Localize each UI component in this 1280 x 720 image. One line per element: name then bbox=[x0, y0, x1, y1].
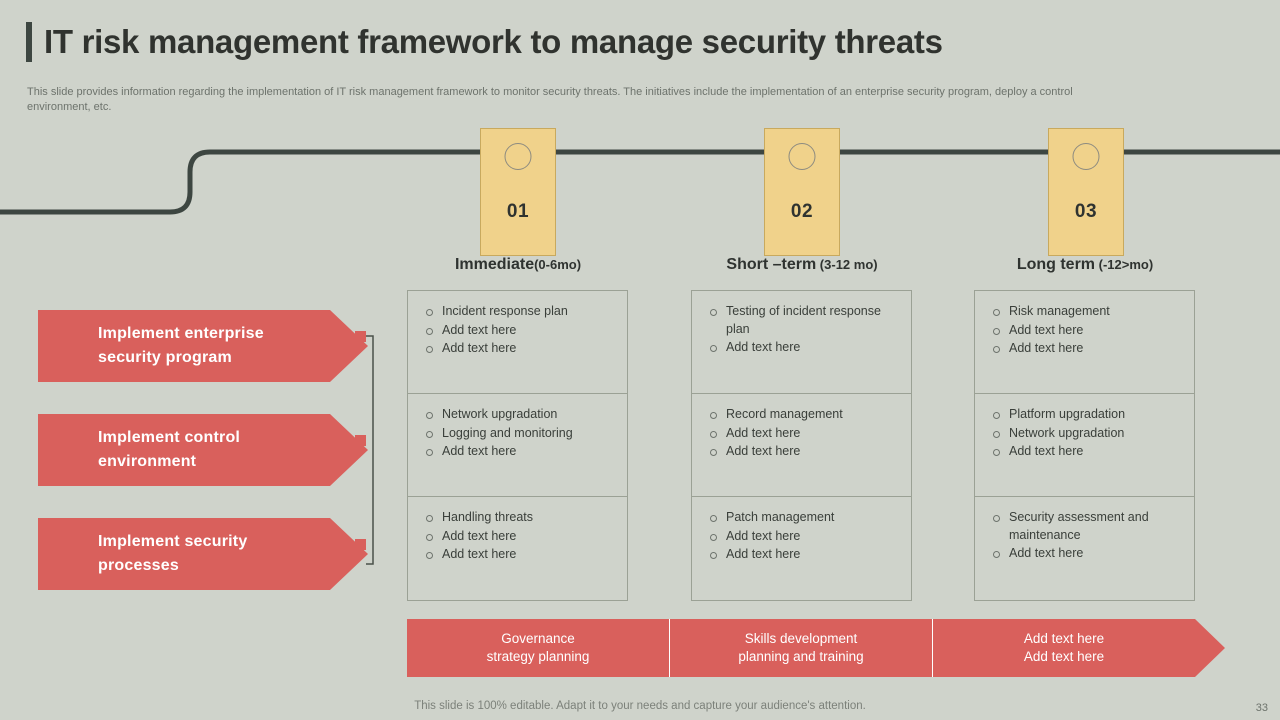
list-item: Network upgradation bbox=[989, 425, 1184, 443]
initiative-arrow-enterprise-security-program: Implement enterprise security program bbox=[38, 310, 368, 382]
list-item: Add text here bbox=[989, 545, 1184, 563]
initiative-arrow-security-processes: Implement security processes bbox=[38, 518, 368, 590]
milestone-tag-02: 02 bbox=[764, 128, 840, 256]
bullet-list: Testing of incident response plan Add te… bbox=[706, 303, 901, 357]
connector-bracket bbox=[355, 330, 377, 570]
list-item: Incident response plan bbox=[422, 303, 617, 321]
content-column-immediate: Incident response plan Add text here Add… bbox=[407, 290, 628, 601]
bullet-list: Patch management Add text here Add text … bbox=[706, 509, 901, 564]
list-item: Add text here bbox=[706, 546, 901, 564]
list-item: Record management bbox=[706, 406, 901, 424]
column-heading-long-term: Long term (-12>mo) bbox=[945, 256, 1225, 274]
connector-node bbox=[355, 331, 366, 342]
content-column-short-term: Testing of incident response plan Add te… bbox=[691, 290, 912, 601]
banner-line-2: planning and training bbox=[738, 648, 863, 666]
bullet-list: Network upgradation Logging and monitori… bbox=[422, 406, 617, 461]
banner-line-2: Add text here bbox=[1024, 648, 1104, 666]
content-cell: Network upgradation Logging and monitori… bbox=[408, 394, 627, 497]
list-item: Add text here bbox=[706, 425, 901, 443]
connector-node bbox=[355, 435, 366, 446]
column-heading-immediate: Immediate(0-6mo) bbox=[378, 256, 658, 274]
column-heading-short-term: Short –term (3-12 mo) bbox=[662, 256, 942, 274]
title-bar: IT risk management framework to manage s… bbox=[26, 22, 1254, 62]
content-cell: Testing of incident response plan Add te… bbox=[692, 291, 911, 394]
content-cell: Record management Add text here Add text… bbox=[692, 394, 911, 497]
list-item: Add text here bbox=[989, 340, 1184, 358]
banner-point bbox=[1195, 619, 1225, 677]
content-cell: Security assessment and maintenance Add … bbox=[975, 497, 1194, 600]
list-item: Platform upgradation bbox=[989, 406, 1184, 424]
list-item: Testing of incident response plan bbox=[706, 303, 901, 338]
content-cell: Handling threats Add text here Add text … bbox=[408, 497, 627, 600]
banner-line-1: Add text here bbox=[1024, 630, 1104, 648]
milestone-number: 01 bbox=[481, 201, 555, 223]
tag-hole-icon bbox=[505, 143, 532, 170]
banner-segment: Add text here Add text here bbox=[933, 619, 1195, 677]
page-title: IT risk management framework to manage s… bbox=[44, 22, 1254, 62]
initiative-label: Implement enterprise security program bbox=[98, 310, 328, 382]
banner-line-2: strategy planning bbox=[487, 648, 590, 666]
initiative-label: Implement security processes bbox=[98, 518, 328, 590]
connector-node bbox=[355, 539, 366, 550]
content-cell: Platform upgradation Network upgradation… bbox=[975, 394, 1194, 497]
list-item: Add text here bbox=[706, 443, 901, 461]
list-item: Logging and monitoring bbox=[422, 425, 617, 443]
page-number: 33 bbox=[1256, 702, 1268, 714]
bottom-banner: Governance strategy planning Skills deve… bbox=[407, 619, 1195, 677]
column-heading-main: Long term bbox=[1017, 256, 1095, 273]
list-item: Patch management bbox=[706, 509, 901, 527]
list-item: Add text here bbox=[422, 528, 617, 546]
column-heading-main: Short –term bbox=[726, 256, 816, 273]
column-heading-main: Immediate bbox=[455, 256, 534, 273]
banner-line-1: Governance bbox=[487, 630, 590, 648]
column-heading-sub: (0-6mo) bbox=[534, 257, 581, 272]
tag-hole-icon bbox=[1073, 143, 1100, 170]
list-item: Add text here bbox=[422, 546, 617, 564]
content-cell: Patch management Add text here Add text … bbox=[692, 497, 911, 600]
bullet-list: Platform upgradation Network upgradation… bbox=[989, 406, 1184, 461]
footer-note: This slide is 100% editable. Adapt it to… bbox=[0, 700, 1280, 712]
slide-subtitle: This slide provides information regardin… bbox=[27, 85, 1127, 115]
list-item: Add text here bbox=[422, 340, 617, 358]
initiative-arrow-control-environment: Implement control environment bbox=[38, 414, 368, 486]
list-item: Risk management bbox=[989, 303, 1184, 321]
list-item: Add text here bbox=[989, 322, 1184, 340]
list-item: Add text here bbox=[706, 339, 901, 357]
list-item: Add text here bbox=[422, 443, 617, 461]
milestone-tag-03: 03 bbox=[1048, 128, 1124, 256]
milestone-number: 02 bbox=[765, 201, 839, 223]
list-item: Add text here bbox=[422, 322, 617, 340]
content-column-long-term: Risk management Add text here Add text h… bbox=[974, 290, 1195, 601]
bullet-list: Handling threats Add text here Add text … bbox=[422, 509, 617, 564]
tag-hole-icon bbox=[789, 143, 816, 170]
bullet-list: Risk management Add text here Add text h… bbox=[989, 303, 1184, 358]
banner-line-1: Skills development bbox=[738, 630, 863, 648]
milestone-number: 03 bbox=[1049, 201, 1123, 223]
list-item: Security assessment and maintenance bbox=[989, 509, 1184, 544]
list-item: Network upgradation bbox=[422, 406, 617, 424]
bullet-list: Security assessment and maintenance Add … bbox=[989, 509, 1184, 563]
content-cell: Risk management Add text here Add text h… bbox=[975, 291, 1194, 394]
list-item: Add text here bbox=[706, 528, 901, 546]
list-item: Add text here bbox=[989, 443, 1184, 461]
content-cell: Incident response plan Add text here Add… bbox=[408, 291, 627, 394]
milestone-tag-01: 01 bbox=[480, 128, 556, 256]
initiative-label: Implement control environment bbox=[98, 414, 328, 486]
banner-segment: Skills development planning and training bbox=[670, 619, 933, 677]
bullet-list: Record management Add text here Add text… bbox=[706, 406, 901, 461]
list-item: Handling threats bbox=[422, 509, 617, 527]
bullet-list: Incident response plan Add text here Add… bbox=[422, 303, 617, 358]
banner-segment: Governance strategy planning bbox=[407, 619, 670, 677]
column-heading-sub: (3-12 mo) bbox=[816, 257, 877, 272]
banner-body: Governance strategy planning Skills deve… bbox=[407, 619, 1195, 677]
column-heading-sub: (-12>mo) bbox=[1095, 257, 1153, 272]
